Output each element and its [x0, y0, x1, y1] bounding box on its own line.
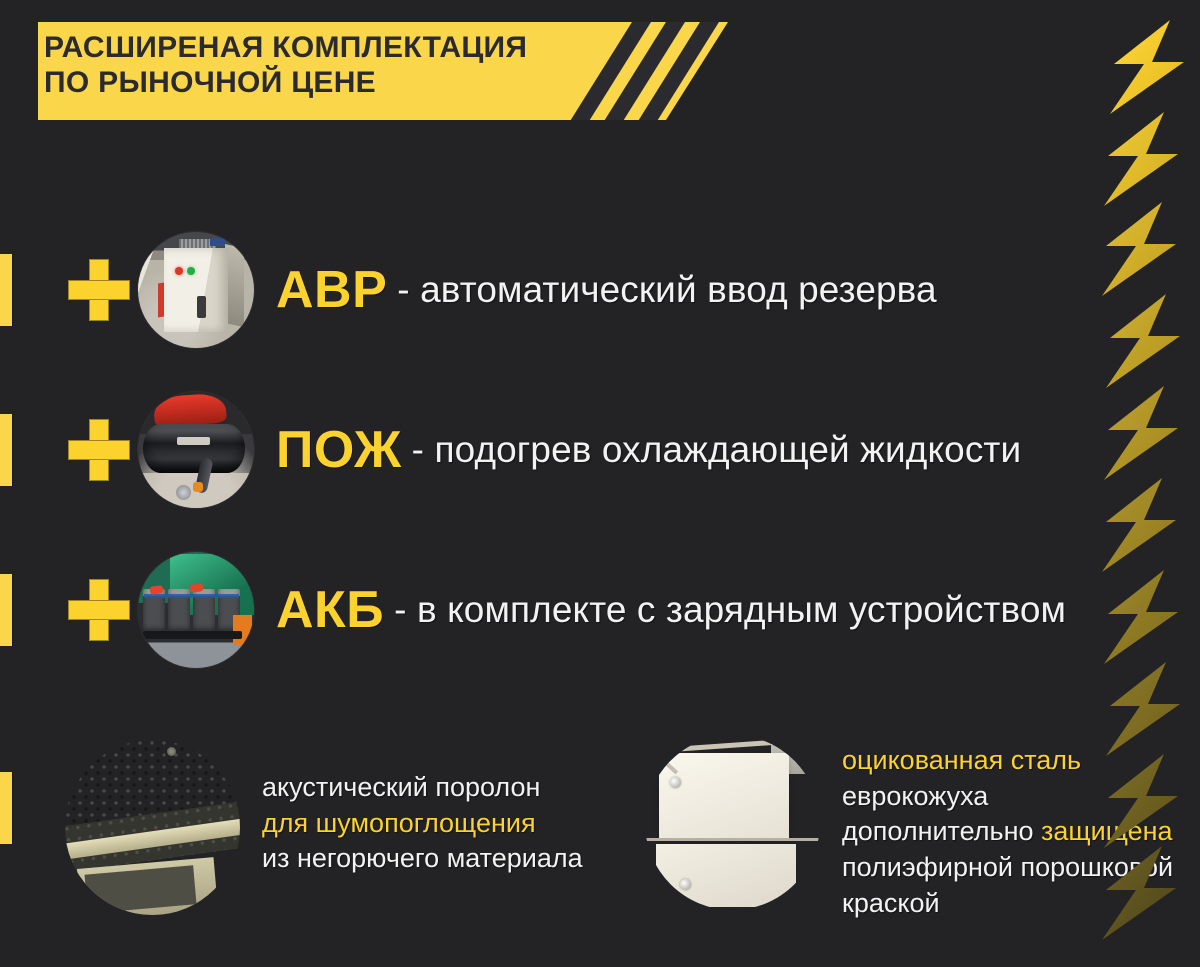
lightning-bolt-icon [1098, 384, 1184, 482]
lightning-bolt-icon [1098, 752, 1184, 850]
card-line-highlight: для шумопоглощения [262, 808, 536, 838]
feature-desc-akb: - в комплекте с зарядным устройством [394, 589, 1066, 630]
card-acoustic-foam: акустический поролон для шумопоглощения … [65, 740, 583, 915]
card-text-acoustic-foam: акустический поролон для шумопоглощения … [262, 740, 583, 877]
galvanized-steel-photo [645, 735, 820, 910]
page-title: РАСШИРЕНАЯ КОМПЛЕКТАЦИЯ ПО РЫНОЧНОЙ ЦЕНЕ [44, 30, 527, 100]
feature-text-poj: ПОЖ- подогрев охлаждающей жидкости [276, 420, 1021, 480]
feature-abbr-avr: АВР [276, 261, 387, 319]
coolant-preheater-photo [138, 392, 254, 508]
card-line-highlight: оцикованная сталь [842, 745, 1081, 775]
plus-icon [68, 259, 130, 321]
ats-cabinet-photo [138, 232, 254, 348]
lightning-bolt-icon [1098, 110, 1184, 208]
edge-marker-tab-4 [0, 772, 12, 844]
acoustic-foam-photo [65, 740, 240, 915]
slide-canvas: РАСШИРЕНАЯ КОМПЛЕКТАЦИЯ ПО РЫНОЧНОЙ ЦЕНЕ… [0, 0, 1200, 967]
card-line: из негорючего материала [262, 841, 583, 877]
feature-row-akb: АКБ- в комплекте с зарядным устройством [0, 540, 1100, 680]
plus-icon [68, 579, 130, 641]
feature-text-avr: АВР- автоматический ввод резерва [276, 260, 937, 320]
lightning-bolt-icon [1098, 568, 1184, 666]
feature-desc-avr: - автоматический ввод резерва [397, 269, 936, 310]
feature-desc-poj: - подогрев охлаждающей жидкости [412, 429, 1022, 470]
lightning-bolt-icon [1096, 476, 1182, 574]
feature-abbr-poj: ПОЖ [276, 421, 402, 479]
lightning-bolt-icon [1096, 200, 1182, 298]
battery-pack-photo [138, 552, 254, 668]
lightning-bolt-icon [1096, 844, 1182, 942]
feature-row-avr: АВР- автоматический ввод резерва [0, 220, 1100, 360]
lightning-bolt-icon [1100, 660, 1186, 758]
plus-icon [68, 419, 130, 481]
lightning-decor-column [1090, 0, 1200, 967]
card-line: дополнительно [842, 816, 1041, 846]
card-line: акустический поролон [262, 770, 583, 806]
lightning-bolt-icon [1100, 292, 1186, 390]
feature-text-akb: АКБ- в комплекте с зарядным устройством [276, 580, 1066, 640]
feature-abbr-akb: АКБ [276, 581, 384, 639]
feature-row-poj: ПОЖ- подогрев охлаждающей жидкости [0, 380, 1100, 520]
lightning-bolt-icon [1104, 18, 1190, 116]
